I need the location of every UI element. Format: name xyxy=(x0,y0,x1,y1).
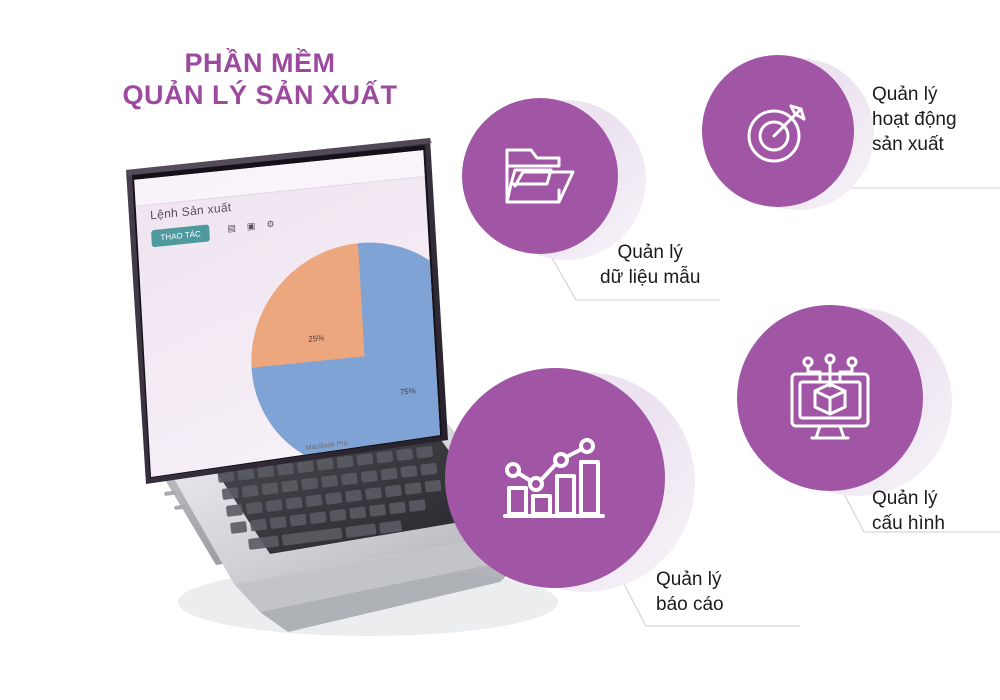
bar-chart-line-icon xyxy=(503,432,607,524)
feature-circle-bao-cao[interactable] xyxy=(445,368,665,588)
feature-label-bao-cao: Quản lý báo cáo xyxy=(656,567,724,617)
page-title-line-1: PHẦN MỀM xyxy=(60,48,460,80)
page-title-line-2: QUẢN LÝ SẢN XUẤT xyxy=(60,80,460,112)
poster-canvas: PHẦN MỀM QUẢN LÝ SẢN XUẤT xyxy=(0,0,1000,700)
page-title: PHẦN MỀM QUẢN LÝ SẢN XUẤT xyxy=(60,48,460,112)
